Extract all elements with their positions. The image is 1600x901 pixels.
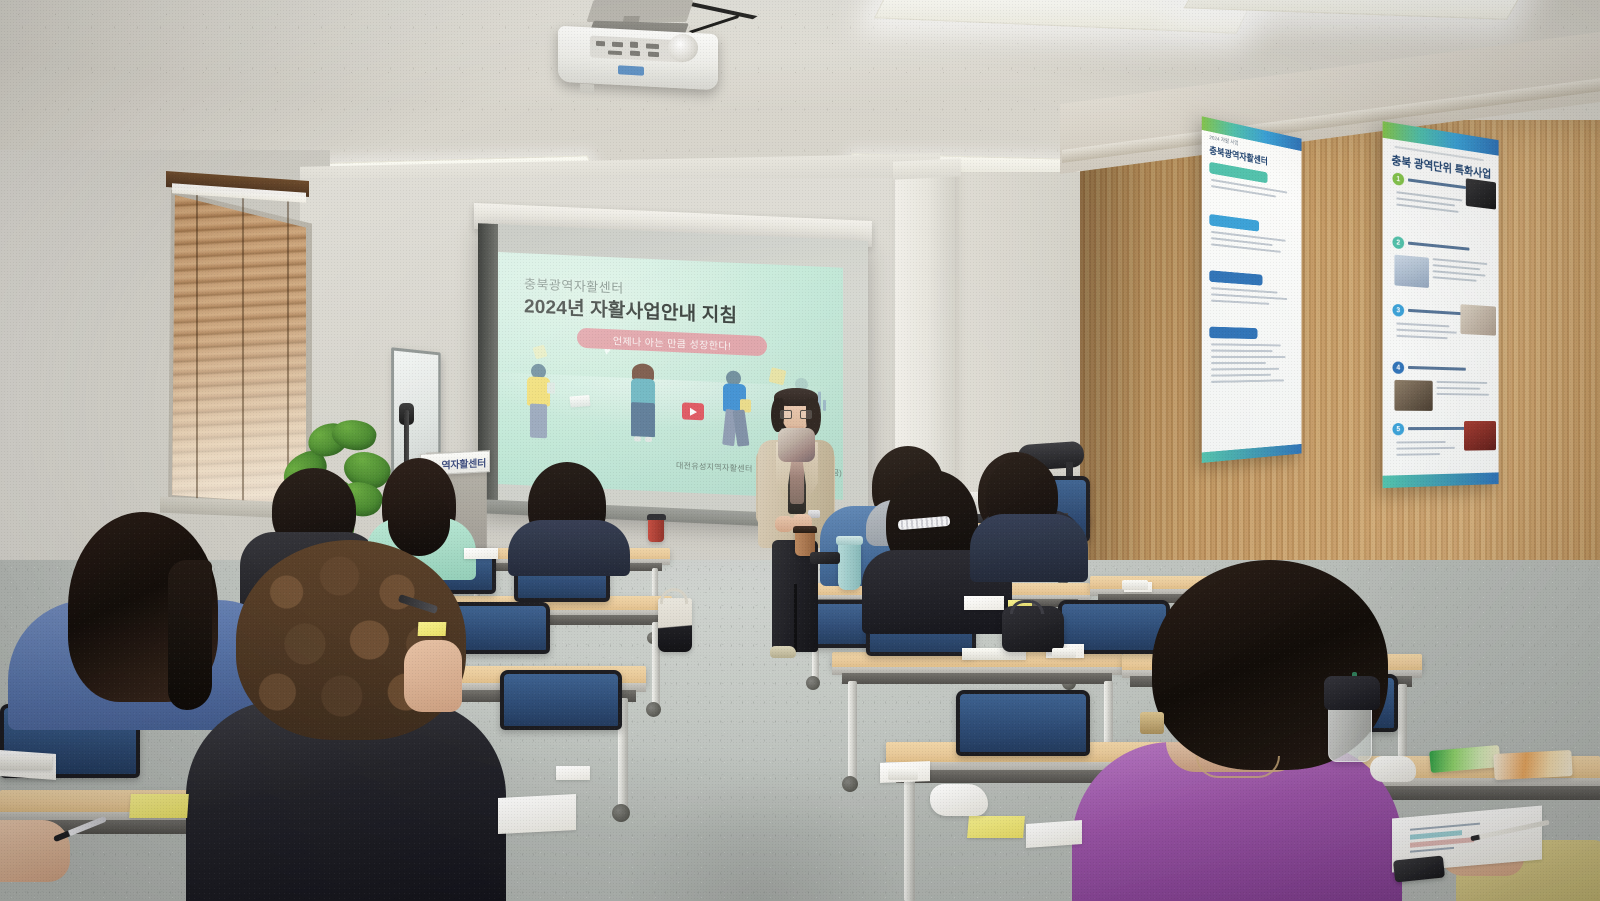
attendee-hair-strand <box>168 560 212 710</box>
tote-bag[interactable] <box>658 598 692 652</box>
projector-brand-badge <box>618 65 644 75</box>
printed-handout[interactable] <box>1026 820 1082 848</box>
attendee-necklace <box>1196 756 1280 778</box>
poster-title: 충북 광역단위 특화사업 <box>1391 151 1491 181</box>
teal-tumbler[interactable] <box>838 542 861 590</box>
yellow-sticky-note[interactable] <box>967 816 1025 838</box>
tumbler-lid <box>836 536 863 545</box>
yellow-sticky-note[interactable] <box>129 794 189 818</box>
eraser-block[interactable] <box>1122 580 1148 590</box>
attendee-hand-writing <box>0 820 70 882</box>
eraser-block[interactable] <box>888 768 918 780</box>
printed-handout[interactable] <box>964 596 1004 610</box>
snack-package[interactable] <box>1493 750 1572 780</box>
presenter-shoe <box>770 646 796 658</box>
column-capital <box>893 158 961 180</box>
blind-cord[interactable] <box>242 192 244 506</box>
printed-handout[interactable] <box>556 766 590 780</box>
eraser-block[interactable] <box>1052 648 1076 658</box>
tissue[interactable] <box>930 784 988 816</box>
attendee-hand <box>404 640 462 712</box>
presenter-scarf-tail <box>790 456 804 504</box>
handbag[interactable] <box>1324 676 1380 710</box>
tissue[interactable] <box>1370 756 1416 782</box>
glasses-icon <box>780 410 812 419</box>
ceiling-projector <box>540 0 740 105</box>
projector-foot <box>580 84 594 94</box>
coffee-cup-lid <box>793 526 817 533</box>
coffee-cup-lid <box>647 514 666 520</box>
presenter-scarf <box>778 428 815 462</box>
printed-handout[interactable] <box>498 794 576 834</box>
chair-back[interactable] <box>956 690 1090 756</box>
projector-mount <box>586 0 693 22</box>
paper-coffee-cup[interactable] <box>648 518 664 542</box>
podium-nameplate-text: 역자활센터 <box>441 454 486 471</box>
blind-cord[interactable] <box>196 188 198 506</box>
poster-center-info: 2024 자활 사업 충북광역자활센터 <box>1202 116 1302 463</box>
chair-back[interactable] <box>500 670 622 730</box>
yellow-sticky-note[interactable] <box>418 622 447 636</box>
small-jar[interactable] <box>1140 712 1164 734</box>
notebook[interactable] <box>0 756 52 770</box>
printed-handout[interactable] <box>464 548 498 559</box>
photo-scene: 충북광역자활센터 2024년 자활사업안내 지침 언제나 아는 만큼 성장한다!… <box>0 0 1600 901</box>
poster-specialized-projects: 충북 광역단위 특화사업 1 2 3 4 5 <box>1383 121 1499 488</box>
smartphone[interactable] <box>810 552 840 564</box>
presenter-leg-seam <box>794 584 797 652</box>
